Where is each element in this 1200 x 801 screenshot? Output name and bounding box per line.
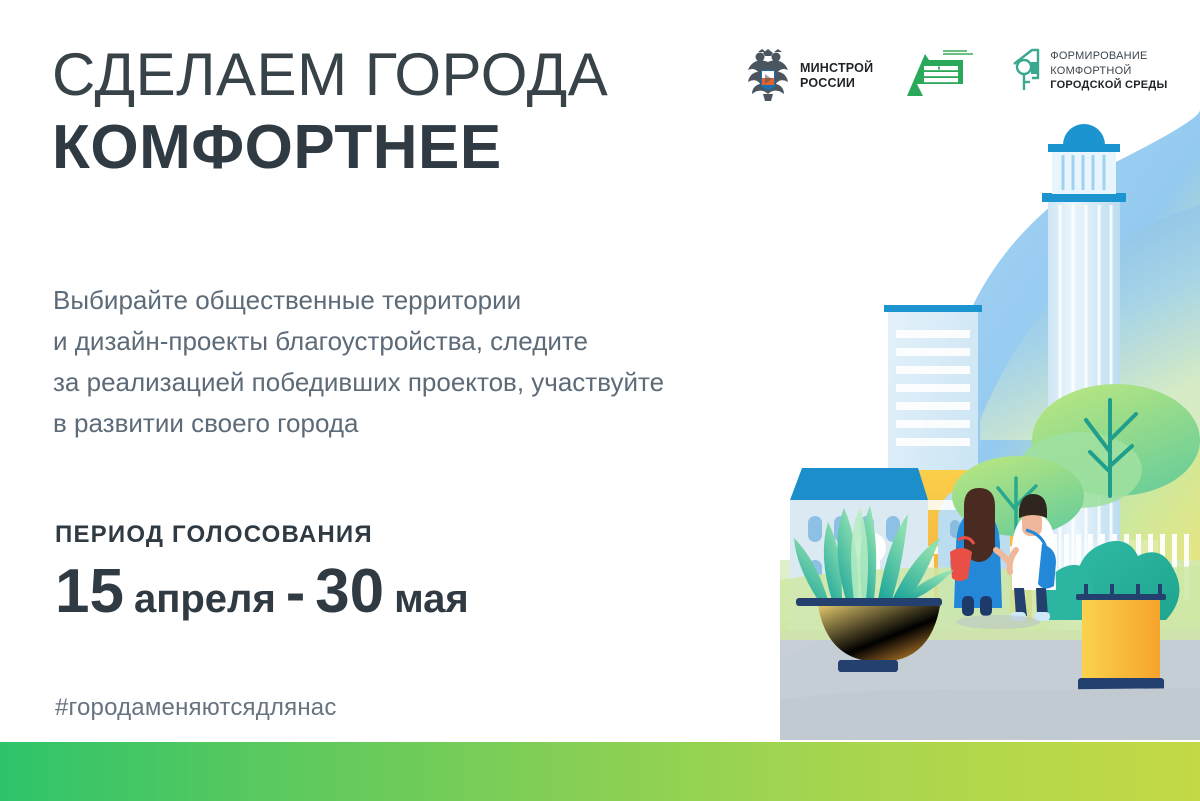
logo-fgs: ФОРМИРОВАНИЕ КОМФОРТНОЙ ГОРОДСКОЙ СРЕДЫ — [1011, 48, 1167, 94]
house-key-icon — [1011, 48, 1041, 94]
headline-line-2: КОМФОРТНЕЕ — [52, 115, 608, 180]
end-month: мая — [394, 577, 469, 622]
bottom-gradient-bar — [0, 742, 1200, 801]
headline-line-1: СДЕЛАЕМ ГОРОДА — [52, 44, 608, 105]
description-text: Выбирайте общественные территории и диза… — [53, 285, 853, 450]
minstroy-line1: МИНСТРОЙ — [800, 61, 873, 75]
logo-minstroy-russia: МИНСТРОЙ РОССИИ — [745, 48, 873, 104]
fgs-line2: КОМФОРТНОЙ — [1050, 64, 1167, 79]
voting-period-dates: 15 апреля - 30 мая — [55, 556, 475, 627]
fgs-line3: ГОРОДСКОЙ СРЕДЫ — [1050, 78, 1167, 93]
hashtag: #городаменяютсядлянас — [55, 694, 337, 722]
national-projects-russia-icon — [905, 48, 979, 104]
description-line-1: Выбирайте общественные территории — [53, 285, 853, 315]
voting-period-block: ПЕРИОД ГОЛОСОВАНИЯ 15 апреля - 30 мая — [55, 521, 475, 627]
voting-period-label: ПЕРИОД ГОЛОСОВАНИЯ — [55, 521, 475, 549]
description-line-3: за реализацией победивших проектов, учас… — [53, 367, 853, 397]
description-line-2: и дизайн-проекты благоустройства, следит… — [53, 326, 853, 356]
russian-coat-of-arms-icon — [745, 48, 791, 104]
trash-bin — [1076, 584, 1166, 692]
logo-national-projects — [905, 48, 979, 104]
poster-root: МИНСТРОЙ РОССИИ — [0, 0, 1200, 801]
start-month: апреля — [134, 577, 276, 622]
date-range-dash: - — [286, 559, 305, 626]
fgs-line1: ФОРМИРОВАНИЕ — [1050, 49, 1167, 64]
fgs-label: ФОРМИРОВАНИЕ КОМФОРТНОЙ ГОРОДСКОЙ СРЕДЫ — [1050, 49, 1167, 94]
start-day: 15 — [55, 556, 124, 627]
description-line-4: в развитии своего города — [53, 408, 853, 438]
logo-row: МИНСТРОЙ РОССИИ — [745, 48, 1168, 104]
minstroy-label: МИНСТРОЙ РОССИИ — [800, 61, 873, 92]
minstroy-line2: РОССИИ — [800, 76, 873, 91]
end-day: 30 — [315, 556, 384, 627]
page-title: СДЕЛАЕМ ГОРОДА КОМФОРТНЕЕ — [52, 44, 608, 180]
